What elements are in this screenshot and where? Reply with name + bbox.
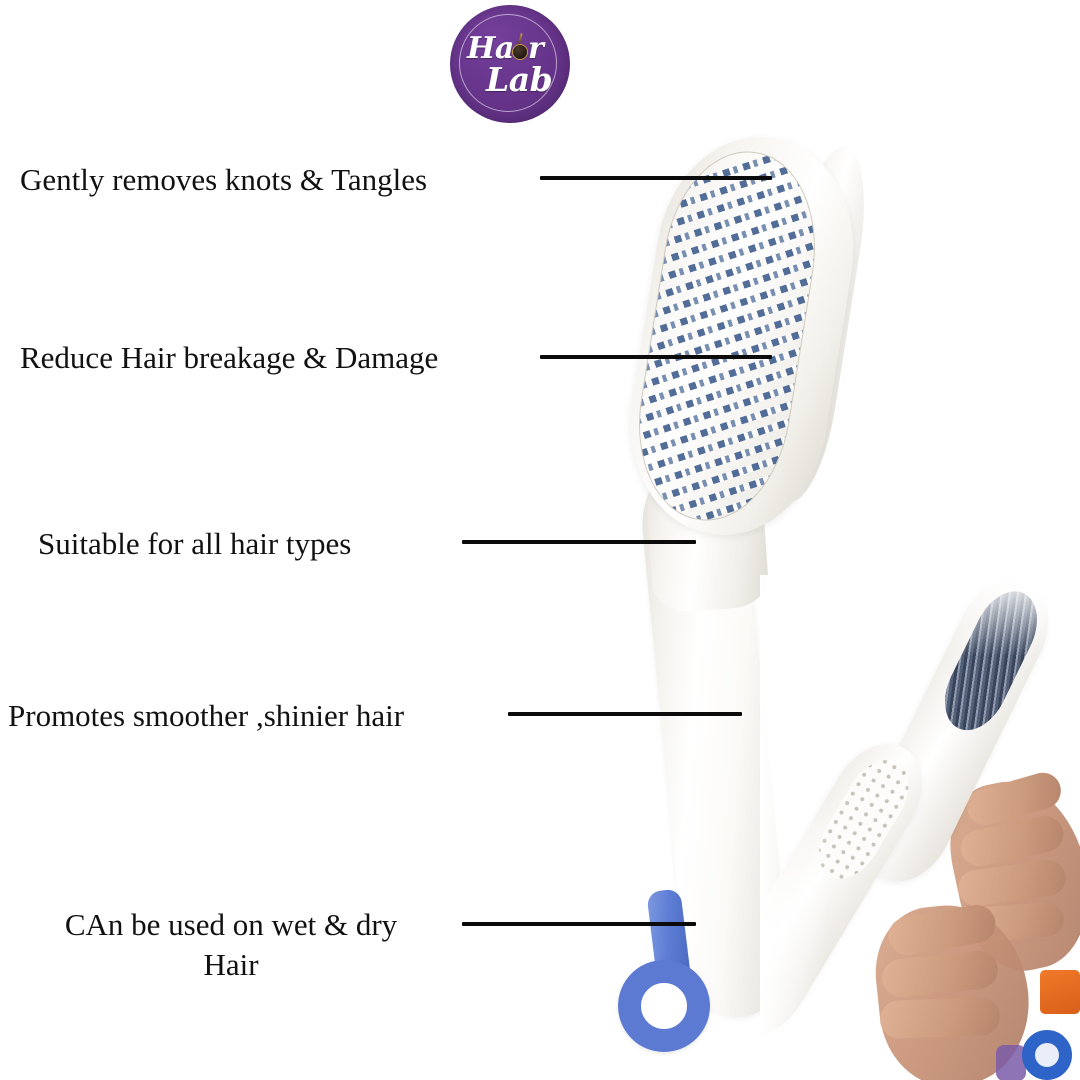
feature-label-gently-removes-knots: Gently removes knots & Tangles bbox=[20, 160, 520, 200]
drop-bulb bbox=[512, 44, 528, 60]
hair-lab-logo: Ha r Lab bbox=[450, 5, 570, 123]
leader-line-1 bbox=[540, 176, 772, 180]
accent-orange-block bbox=[1040, 970, 1080, 1014]
infographic-canvas: Ha r Lab bbox=[0, 0, 1080, 1080]
feature-label-promotes-smoother-shinier: Promotes smoother ,shinier hair bbox=[8, 696, 492, 736]
hair-drop-icon bbox=[511, 38, 529, 60]
leader-line-2 bbox=[540, 355, 772, 359]
feature-label-reduce-hair-breakage: Reduce Hair breakage & Damage bbox=[20, 338, 520, 378]
accent-blue-ring bbox=[1022, 1030, 1072, 1080]
brush-hang-ring bbox=[618, 960, 710, 1052]
logo-text-lab: Lab bbox=[486, 60, 552, 99]
finger bbox=[879, 997, 1000, 1039]
navy-bristle-pad bbox=[932, 581, 1050, 741]
leader-line-3 bbox=[462, 540, 696, 544]
feature-label-wet-and-dry-hair: CAn be used on wet & dry Hair bbox=[30, 905, 432, 984]
feature-label-suitable-all-hair-types: Suitable for all hair types bbox=[38, 524, 438, 564]
lifestyle-inset-photo bbox=[760, 575, 1080, 1080]
leader-line-4 bbox=[508, 712, 742, 716]
leader-line-5 bbox=[462, 922, 696, 926]
